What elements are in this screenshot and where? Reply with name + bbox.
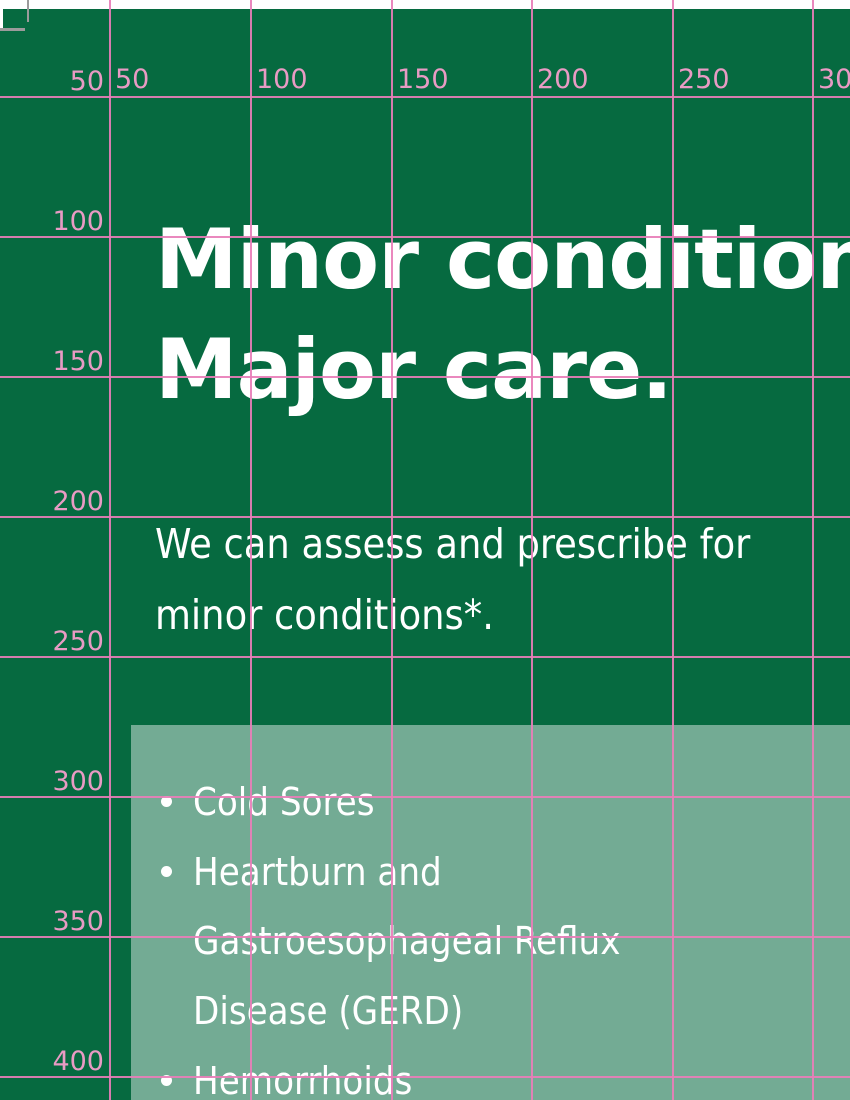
page-canvas: Minor conditions. Major care. We can ass… bbox=[0, 9, 850, 1100]
list-item: Heartburn and bbox=[151, 839, 850, 907]
list-item-continuation: Gastroesophageal Reflux bbox=[151, 908, 850, 976]
list-item-label: Cold Sores bbox=[193, 780, 375, 824]
page-title: Minor conditions. Major care. bbox=[155, 205, 850, 424]
list-item-label: Heartburn and bbox=[193, 850, 442, 894]
page-subtitle-line-1: We can assess and prescribe for bbox=[155, 509, 850, 580]
list-item-continuation: Disease (GERD) bbox=[151, 978, 850, 1046]
conditions-panel: Cold Sores Heartburn and Gastroesophagea… bbox=[131, 725, 850, 1100]
ruler-tick-vertical bbox=[27, 0, 29, 22]
ruler-corner-mark bbox=[0, 0, 3, 30]
page-subtitle-line-2: minor conditions*. bbox=[155, 580, 850, 651]
page-subtitle: We can assess and prescribe for minor co… bbox=[155, 509, 850, 650]
ruler-tick-horizontal bbox=[0, 28, 25, 31]
list-item-label: Gastroesophageal Reflux bbox=[193, 919, 620, 963]
screenshot-root: Minor conditions. Major care. We can ass… bbox=[0, 0, 850, 1100]
list-item-label: Disease (GERD) bbox=[193, 989, 463, 1033]
hero-text-block: Minor conditions. Major care. bbox=[155, 205, 850, 424]
page-title-line-2: Major care. bbox=[155, 315, 850, 425]
list-item-label: Hemorrhoids bbox=[193, 1059, 412, 1100]
list-item: Hemorrhoids bbox=[151, 1048, 850, 1100]
page-title-line-1: Minor conditions. bbox=[155, 205, 850, 315]
conditions-list: Cold Sores Heartburn and Gastroesophagea… bbox=[131, 725, 850, 1100]
list-item: Cold Sores bbox=[151, 769, 850, 837]
top-white-strip bbox=[0, 0, 850, 9]
